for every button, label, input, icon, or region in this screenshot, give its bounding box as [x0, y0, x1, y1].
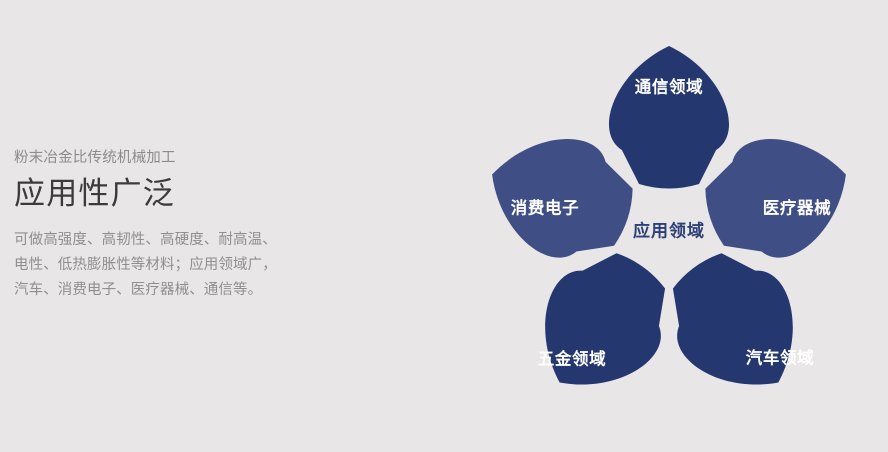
- text-panel: 粉末冶金比传统机械加工 应用性广泛 可做高强度、高韧性、高硬度、耐高温、 电性、…: [14, 148, 344, 303]
- page-title: 应用性广泛: [14, 174, 344, 214]
- petal-label-hardware: 五金领域: [538, 348, 606, 368]
- petal-communication[interactable]: [609, 46, 729, 189]
- body-line: 电性、低热膨胀性等材料；应用领域广，: [14, 253, 344, 278]
- eyebrow-text: 粉末冶金比传统机械加工: [14, 148, 344, 168]
- body-line: 可做高强度、高韧性、高硬度、耐高温、: [14, 228, 344, 253]
- petal-medical[interactable]: [705, 139, 846, 258]
- flower-chart: 应用领域 通信领域医疗器械汽车领域五金领域消费电子: [450, 20, 888, 432]
- petal-consumer-electronics[interactable]: [492, 139, 633, 258]
- petal-label-medical: 医疗器械: [763, 197, 831, 217]
- petal-label-consumer-electronics: 消费电子: [511, 197, 579, 217]
- body-paragraph: 可做高强度、高韧性、高硬度、耐高温、 电性、低热膨胀性等材料；应用领域广， 汽车…: [14, 228, 344, 303]
- petal-label-communication: 通信领域: [635, 76, 703, 96]
- application-fields-diagram: 应用领域 通信领域医疗器械汽车领域五金领域消费电子: [450, 20, 888, 432]
- body-line: 汽车、消费电子、医疗器械、通信等。: [14, 278, 344, 303]
- petal-label-automotive: 汽车领域: [746, 347, 814, 367]
- slide-canvas: 粉末冶金比传统机械加工 应用性广泛 可做高强度、高韧性、高硬度、耐高温、 电性、…: [0, 0, 888, 452]
- center-label: 应用领域: [633, 220, 705, 240]
